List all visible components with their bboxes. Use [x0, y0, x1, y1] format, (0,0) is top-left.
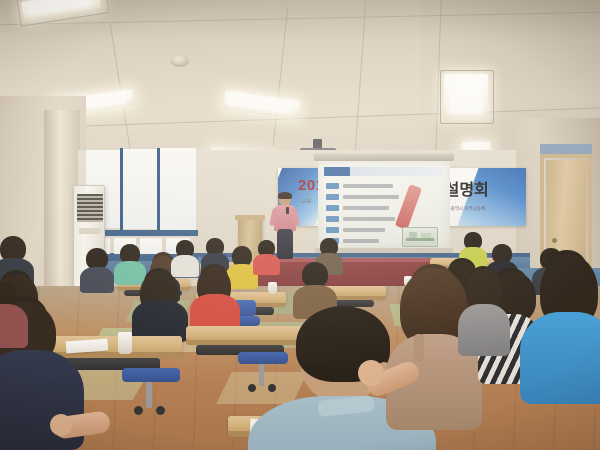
presenter-trousers	[277, 229, 293, 259]
smoke-detector-icon	[172, 56, 188, 65]
shoulder-strap	[414, 334, 424, 362]
screen-surface	[318, 161, 450, 249]
paper-cup[interactable]	[118, 332, 132, 354]
hand	[358, 360, 384, 386]
microphone-icon	[286, 207, 289, 214]
slide-bullet	[326, 194, 402, 200]
ceiling-light-5-frame	[440, 70, 494, 124]
slide-bullet	[326, 216, 400, 222]
slide-bullet	[326, 205, 394, 211]
presenter	[272, 193, 298, 259]
screen-roller	[314, 153, 454, 161]
presenter-hair	[278, 192, 292, 199]
slide-bullet	[326, 227, 390, 233]
slide-header-tag	[324, 167, 350, 176]
window-pane	[123, 149, 157, 229]
paper-cup[interactable]	[268, 282, 277, 294]
hand	[50, 414, 72, 436]
slide-diagram-icon	[402, 227, 438, 247]
ac-grill	[77, 194, 103, 222]
classroom-photo: 2015 -교육- 명 사전설명회 원 교육청 광주광역시교육청 광주광역시 지…	[0, 0, 600, 450]
door-handle-icon[interactable]	[552, 238, 557, 243]
ac-control-panel[interactable]	[79, 228, 101, 234]
slide-red-graphic-icon	[395, 184, 422, 230]
podium-top	[235, 215, 265, 220]
window-pane	[160, 148, 196, 230]
banner-subtitle-left: -교육-	[300, 198, 313, 205]
projection-screen	[318, 160, 450, 256]
slide-bullet	[326, 183, 398, 189]
